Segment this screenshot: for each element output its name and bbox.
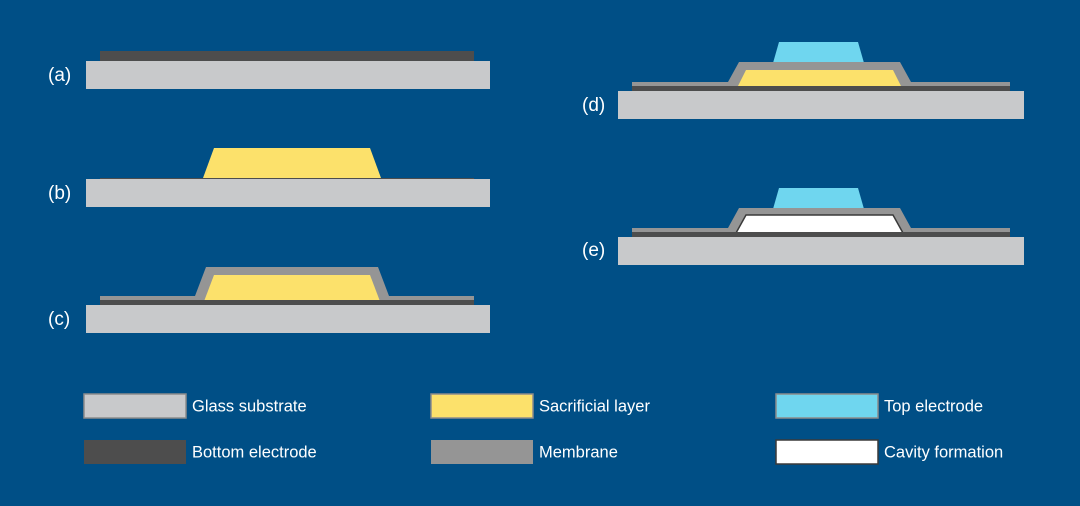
bottom-electrode-swatch bbox=[84, 440, 186, 464]
panel-e-top-electrode bbox=[773, 188, 864, 209]
legend-item-sacrificial-layer: Sacrificial layer bbox=[431, 394, 650, 418]
panel-a-glass-substrate bbox=[86, 61, 490, 89]
panel-a-bottom-electrode bbox=[100, 51, 474, 61]
membrane-swatch bbox=[431, 440, 533, 464]
panel-b-label: (b) bbox=[48, 183, 71, 204]
panel-c-glass-substrate bbox=[86, 305, 490, 333]
panel-a: (a) bbox=[48, 51, 490, 89]
panel-c-sacrificial-layer bbox=[203, 275, 381, 304]
legend-item-glass-substrate: Glass substrate bbox=[84, 394, 307, 418]
legend-label-bottom-electrode: Bottom electrode bbox=[192, 443, 317, 461]
legend-label-cavity-formation: Cavity formation bbox=[884, 443, 1003, 461]
panel-d-top-electrode bbox=[773, 42, 864, 63]
panel-d-label: (d) bbox=[582, 95, 605, 116]
process-flow-figure: (a) (b) (c) (d) (e) bbox=[0, 0, 1080, 506]
legend-label-glass-substrate: Glass substrate bbox=[192, 397, 307, 415]
legend-item-membrane: Membrane bbox=[431, 440, 618, 464]
legend-label-top-electrode: Top electrode bbox=[884, 397, 983, 415]
sacrificial-layer-swatch bbox=[431, 394, 533, 418]
legend-item-bottom-electrode: Bottom electrode bbox=[84, 440, 317, 464]
panel-a-label: (a) bbox=[48, 65, 71, 86]
panel-d-glass-substrate bbox=[618, 91, 1024, 119]
panel-e-glass-substrate bbox=[618, 237, 1024, 265]
legend-label-sacrificial-layer: Sacrificial layer bbox=[539, 397, 650, 415]
panel-e-label: (e) bbox=[582, 240, 605, 261]
panel-b-sacrificial-layer bbox=[203, 148, 381, 178]
panel-e-cavity-formation bbox=[736, 215, 903, 233]
panel-c-label: (c) bbox=[48, 309, 70, 330]
glass-substrate-swatch bbox=[84, 394, 186, 418]
cavity-formation-swatch bbox=[776, 440, 878, 464]
legend-label-membrane: Membrane bbox=[539, 443, 618, 461]
legend-item-cavity-formation: Cavity formation bbox=[776, 440, 1003, 464]
top-electrode-swatch bbox=[776, 394, 878, 418]
panel-b-glass-substrate bbox=[86, 179, 490, 207]
